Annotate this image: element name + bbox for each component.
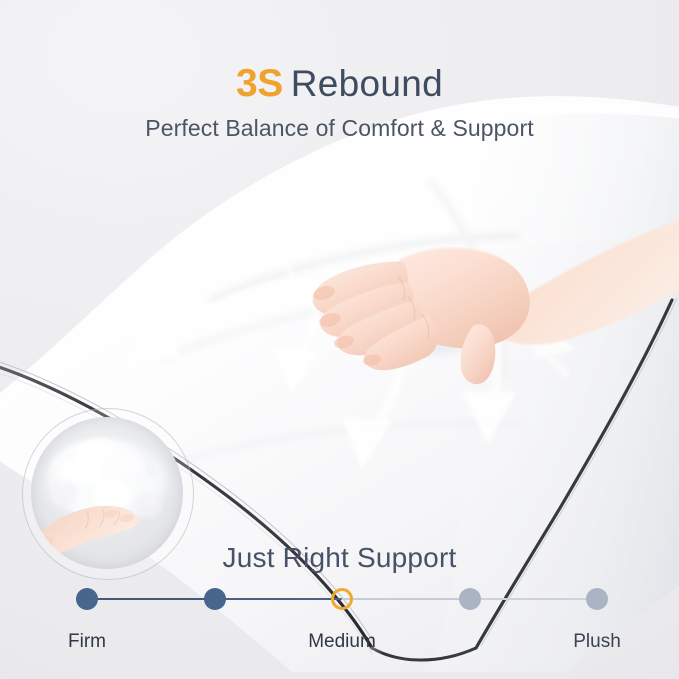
firmness-dot-2[interactable] (204, 588, 226, 610)
scale-segment-4 (470, 598, 598, 600)
firmness-scale: Firm Medium Plush (0, 586, 679, 656)
headline-block: 3SRebound Perfect Balance of Comfort & S… (0, 62, 679, 142)
firmness-label-medium: Medium (308, 630, 376, 654)
firmness-dot-medium-selected[interactable] (331, 588, 353, 610)
firmness-track: Firm Medium Plush (87, 598, 597, 600)
support-heading: Just Right Support (0, 541, 679, 575)
brand-3s: 3S (236, 62, 283, 105)
scale-segment-1 (87, 598, 215, 600)
scale-segment-3 (342, 598, 470, 600)
firmness-label-firm: Firm (68, 630, 106, 654)
title-rebound: Rebound (291, 63, 443, 104)
firmness-label-plush: Plush (573, 630, 621, 654)
firmness-dot-firm[interactable] (76, 588, 98, 610)
firmness-dot-plush[interactable] (586, 588, 608, 610)
firmness-dot-4[interactable] (459, 588, 481, 610)
product-feature-image: 3SRebound Perfect Balance of Comfort & S… (0, 0, 679, 679)
headline-subtitle: Perfect Balance of Comfort & Support (0, 114, 679, 142)
title-line: 3SRebound (0, 62, 679, 106)
scale-segment-2 (215, 598, 343, 600)
